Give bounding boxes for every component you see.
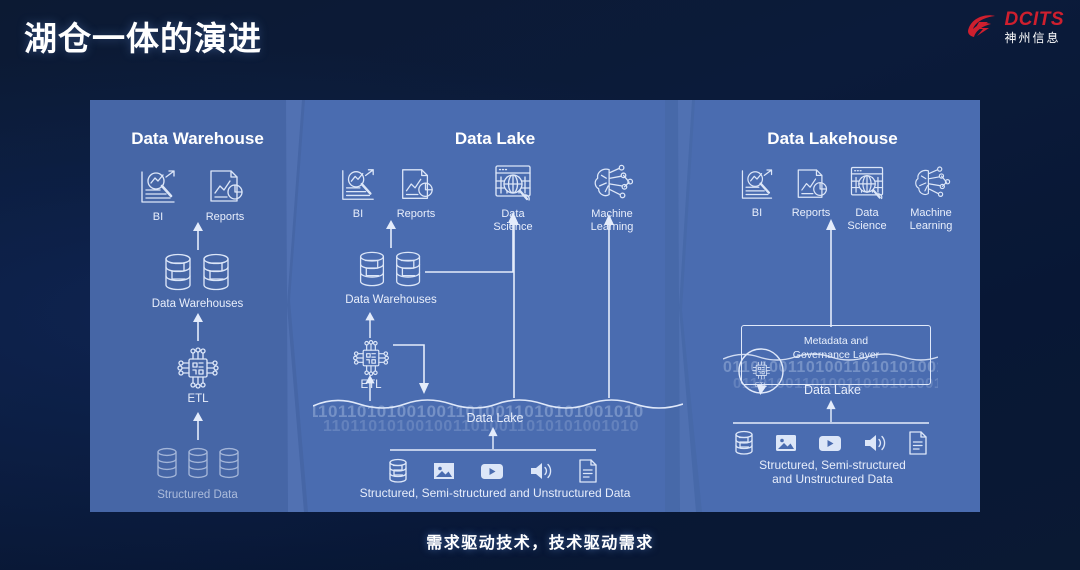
- label-line-1: Data: [855, 207, 878, 219]
- node-label-data-warehouses: Data Warehouses: [152, 298, 244, 311]
- arrow-storage-to-consumers: [191, 222, 205, 250]
- arrow-sources-to-etl: [191, 412, 205, 440]
- arrow-governance-to-consumers: [824, 219, 838, 327]
- panel-title-data-warehouse: Data Warehouse: [90, 129, 305, 149]
- node-reports: Reports: [779, 166, 843, 220]
- label-line-1: Machine: [910, 207, 952, 219]
- panel-title-data-lakehouse: Data Lakehouse: [685, 129, 980, 149]
- slide-root: 湖仓一体的演进 DCITS 神州信息 Data Warehouse: [0, 0, 1080, 570]
- audio-icon: [528, 459, 554, 483]
- data-science-globe-icon: [490, 162, 536, 204]
- node-etl: ETL: [168, 345, 228, 406]
- node-label-data-warehouses: Data Warehouses: [345, 294, 437, 307]
- node-label-etl: ETL: [187, 393, 208, 406]
- logo-en: DCITS: [1005, 10, 1065, 29]
- swoosh-logo-mark-icon: [964, 9, 1000, 45]
- node-data-science: Data Science: [836, 163, 898, 233]
- node-bi: BI: [128, 167, 188, 224]
- panel-title-data-lake: Data Lake: [305, 129, 685, 149]
- logo-text: DCITS 神州信息: [1005, 10, 1065, 44]
- connector-etl-to-lake: [393, 340, 435, 396]
- video-icon: [479, 460, 505, 482]
- node-label-structured-data: Structured Data: [157, 489, 238, 502]
- sources-label: Structured, Semi-structured and Unstruct…: [305, 487, 685, 501]
- node-structured-data: Structured Data: [125, 445, 270, 502]
- node-bi: BI: [330, 166, 386, 221]
- image-icon: [774, 431, 798, 455]
- page-title: 湖仓一体的演进: [24, 12, 262, 60]
- node-label-bi: BI: [752, 207, 762, 220]
- bi-chart-magnifier-icon: [136, 167, 180, 207]
- report-document-icon: [791, 166, 831, 203]
- audio-icon: [862, 431, 888, 455]
- report-document-icon: [203, 167, 247, 207]
- arrow-lake-to-datascience: [507, 214, 521, 398]
- node-reports: Reports: [190, 167, 260, 224]
- database-cylinders-icon: [353, 248, 429, 290]
- node-label-bi: BI: [353, 208, 363, 221]
- panel-data-lakehouse: Data Lakehouse BI: [685, 100, 980, 512]
- label-line-2: and Unstructured Data: [772, 472, 893, 486]
- node-data-warehouses: Data Warehouses: [130, 250, 265, 311]
- node-label-reports: Reports: [206, 211, 245, 224]
- arrow-lake-to-machinelearning: [602, 214, 616, 398]
- panel-data-lake: Data Lake BI: [305, 100, 685, 512]
- arrow-etl-to-storage: [191, 313, 205, 341]
- image-icon: [432, 459, 456, 483]
- bi-chart-magnifier-icon: [737, 166, 777, 203]
- machine-learning-brain-icon: [590, 162, 634, 204]
- node-label-machine-learning: Machine Learning: [910, 207, 953, 233]
- etl-chip-icon: [351, 338, 391, 378]
- arrow-etl-to-storage: [363, 312, 377, 338]
- node-label-data-lake: Data Lake: [685, 383, 980, 398]
- document-icon: [907, 430, 929, 456]
- slide-caption: 需求驱动技术，技术驱动需求: [0, 529, 1080, 553]
- node-machine-learning: Machine Learning: [893, 163, 969, 233]
- node-label-data-science: Data Science: [847, 207, 886, 233]
- database-cylinders-icon: [158, 250, 238, 294]
- evolution-diagram-panel: Data Warehouse BI: [90, 100, 980, 512]
- database-icon: [387, 458, 409, 484]
- label-line-2: Learning: [910, 220, 953, 232]
- node-bi: BI: [733, 166, 781, 220]
- arrow-storage-to-consumers: [384, 220, 398, 248]
- label-line-1: Structured, Semi-structured: [759, 458, 906, 472]
- source-icon-row: [387, 458, 599, 484]
- label-line-1: Metadata and: [804, 335, 868, 347]
- brand-logo: DCITS 神州信息: [964, 9, 1065, 45]
- logo-cn: 神州信息: [1005, 32, 1065, 44]
- source-icon-row: [733, 430, 929, 456]
- report-document-icon: [395, 166, 437, 204]
- panel-data-warehouse: Data Warehouse BI: [90, 100, 305, 512]
- label-line-2: Science: [847, 220, 886, 232]
- sources-label: Structured, Semi-structured and Unstruct…: [685, 459, 980, 487]
- database-cylinders-icon: [153, 445, 243, 483]
- node-label-reports: Reports: [792, 207, 831, 220]
- database-icon: [733, 430, 755, 456]
- arrow-sources-to-lake: [486, 427, 500, 449]
- video-icon: [817, 432, 843, 454]
- source-bus-line: [733, 421, 929, 425]
- node-label-data-lake: Data Lake: [305, 411, 685, 426]
- document-icon: [577, 458, 599, 484]
- bi-chart-magnifier-icon: [337, 166, 379, 204]
- node-label-bi: BI: [153, 211, 163, 224]
- etl-chip-icon: [175, 345, 221, 391]
- data-science-globe-icon: [846, 163, 888, 203]
- machine-learning-brain-icon: [911, 163, 951, 203]
- source-bus-line: [390, 448, 596, 452]
- arrow-sources-to-lake: [824, 400, 838, 422]
